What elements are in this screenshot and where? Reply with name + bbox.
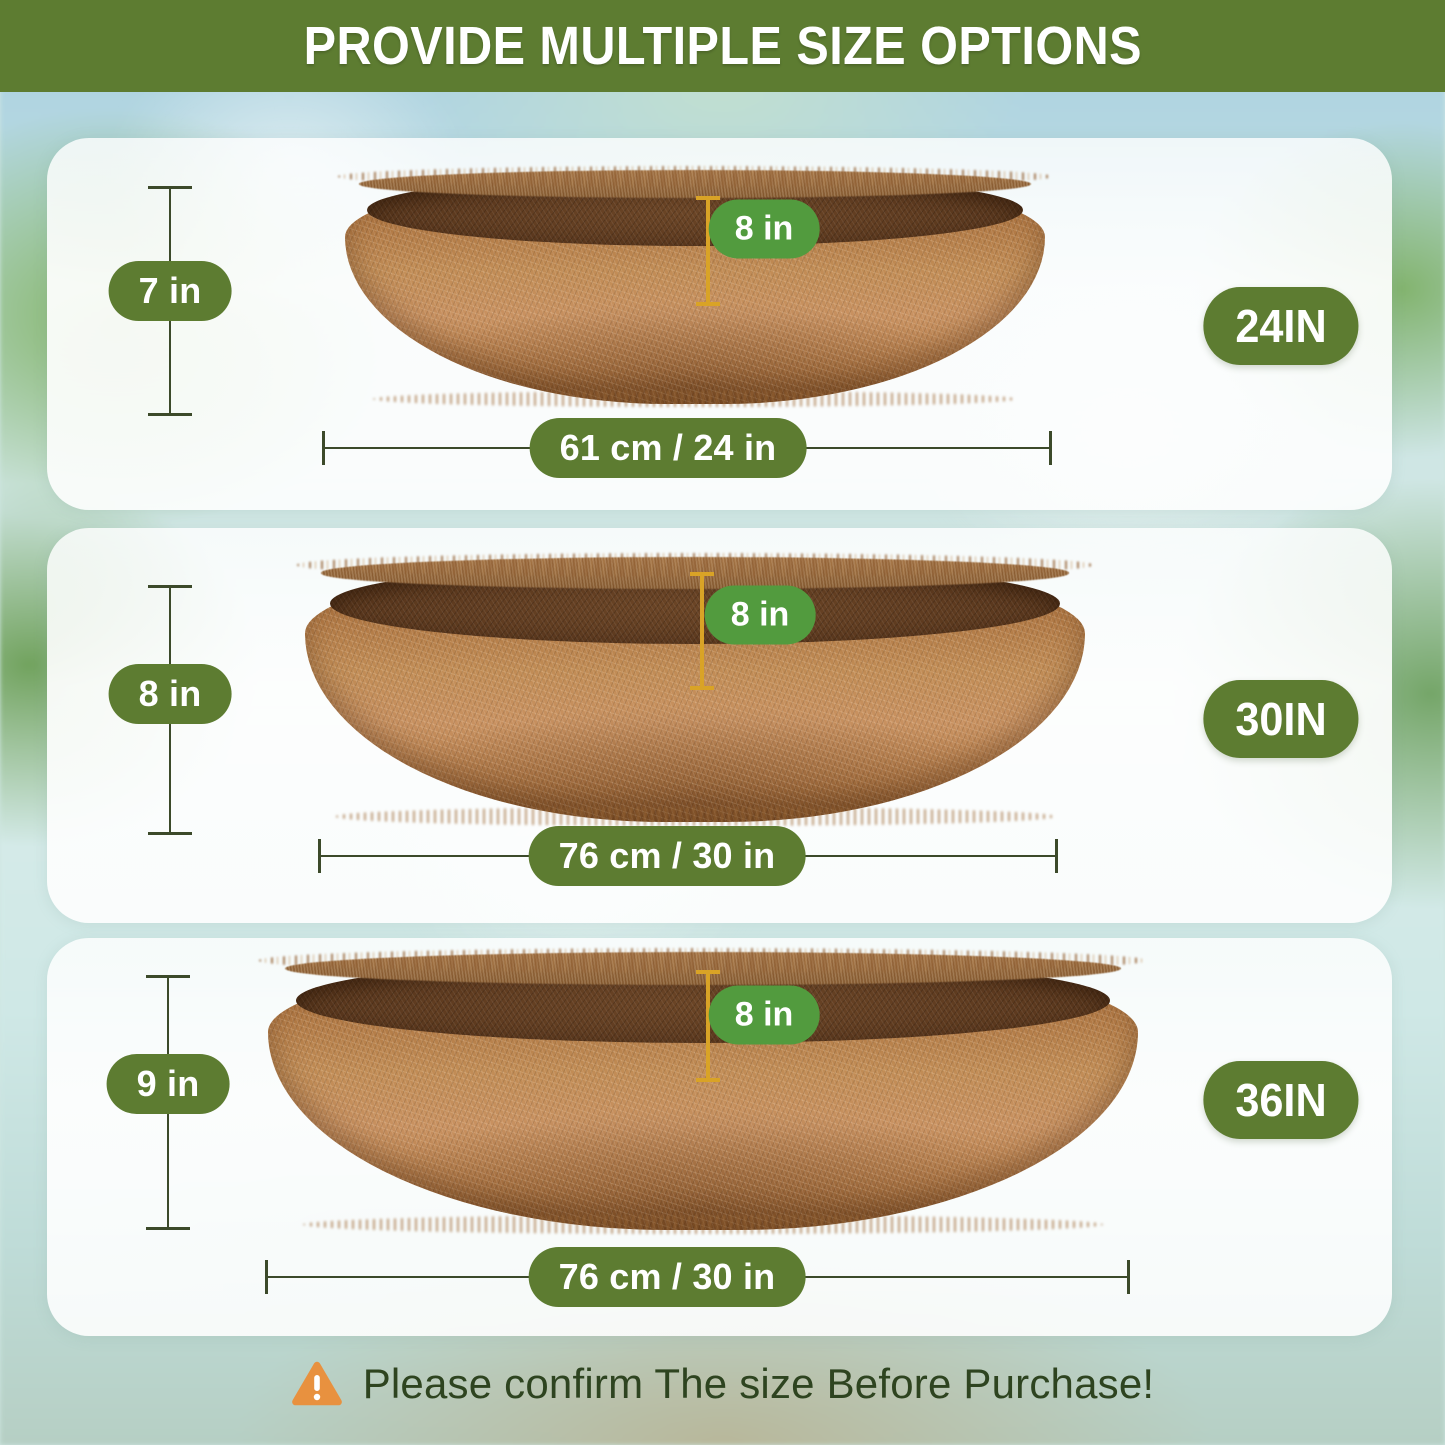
depth-label-30in: 8 in	[705, 586, 816, 645]
purchase-warning-note: Please confirm The size Before Purchase!	[0, 1360, 1445, 1408]
height-label-30in: 8 in	[109, 664, 232, 724]
coco-liner-30in	[305, 560, 1085, 822]
liner-fiber-fringe-bottom	[336, 807, 1054, 825]
liner-fiber-fringe-bottom	[303, 1215, 1103, 1234]
warning-triangle-icon	[291, 1360, 343, 1408]
depth-dimension-line-36in	[706, 970, 710, 1082]
depth-dimension-line-24in	[706, 196, 710, 306]
height-label-36in: 9 in	[107, 1054, 230, 1114]
page-title: PROVIDE MULTIPLE SIZE OPTIONS	[303, 15, 1141, 77]
coco-liner-24in	[345, 172, 1045, 404]
liner-fiber-fringe-top	[338, 166, 1052, 187]
depth-label-36in: 8 in	[709, 986, 820, 1045]
coco-liner-36in	[268, 955, 1138, 1230]
width-label-24in: 61 cm / 24 in	[530, 418, 807, 478]
height-label-24in: 7 in	[109, 261, 232, 321]
infographic-stage: PROVIDE MULTIPLE SIZE OPTIONS 7 in 8 in …	[0, 0, 1445, 1445]
size-badge-36in: 36IN	[1203, 1061, 1358, 1139]
depth-label-24in: 8 in	[709, 200, 820, 259]
size-badge-30in: 30IN	[1203, 680, 1358, 758]
warning-note-text: Please confirm The size Before Purchase!	[363, 1360, 1155, 1408]
width-label-36in: 76 cm / 30 in	[529, 1247, 806, 1307]
depth-dimension-line-30in	[700, 572, 704, 690]
header-banner: PROVIDE MULTIPLE SIZE OPTIONS	[0, 0, 1445, 92]
size-badge-24in: 24IN	[1203, 287, 1358, 365]
width-label-30in: 76 cm / 30 in	[529, 826, 806, 886]
